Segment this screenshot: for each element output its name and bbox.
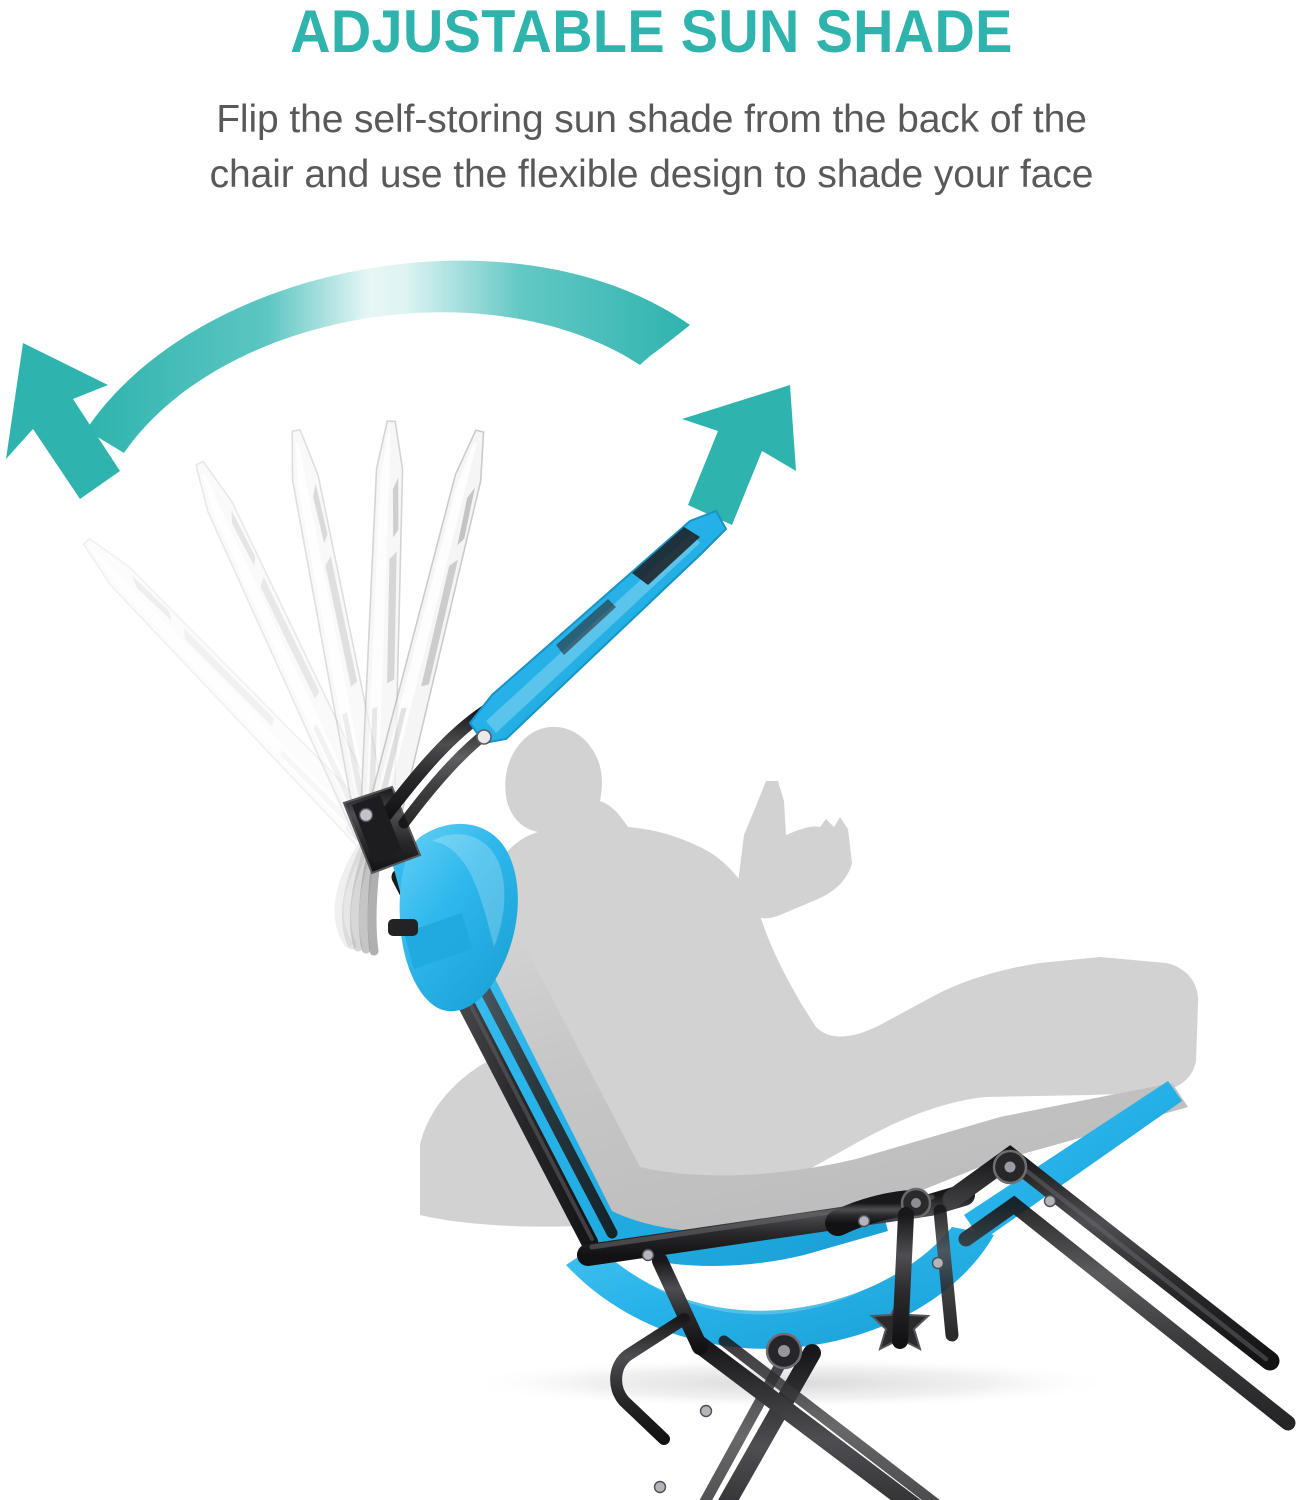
footrest-upper-rail [952, 1157, 1270, 1361]
subtitle-line-2: chair and use the flexible design to sha… [22, 147, 1282, 202]
page-subtitle: Flip the self-storing sun shade from the… [22, 92, 1282, 203]
product-infographic: ADJUSTABLE SUN SHADE Flip the self-stori… [0, 0, 1303, 1500]
arrow-head-right [682, 385, 796, 525]
product-illustration [0, 215, 1303, 1500]
illustration-canvas [0, 215, 1303, 1500]
header-block: ADJUSTABLE SUN SHADE Flip the self-stori… [0, 0, 1303, 215]
seat-strut-rear [900, 1215, 906, 1341]
subtitle-line-1: Flip the self-storing sun shade from the… [22, 92, 1282, 147]
page-title: ADJUSTABLE SUN SHADE [46, 0, 1258, 65]
shade-pivot-rivet [477, 730, 491, 744]
side-release-tab[interactable] [388, 919, 418, 936]
open-book [738, 781, 852, 918]
